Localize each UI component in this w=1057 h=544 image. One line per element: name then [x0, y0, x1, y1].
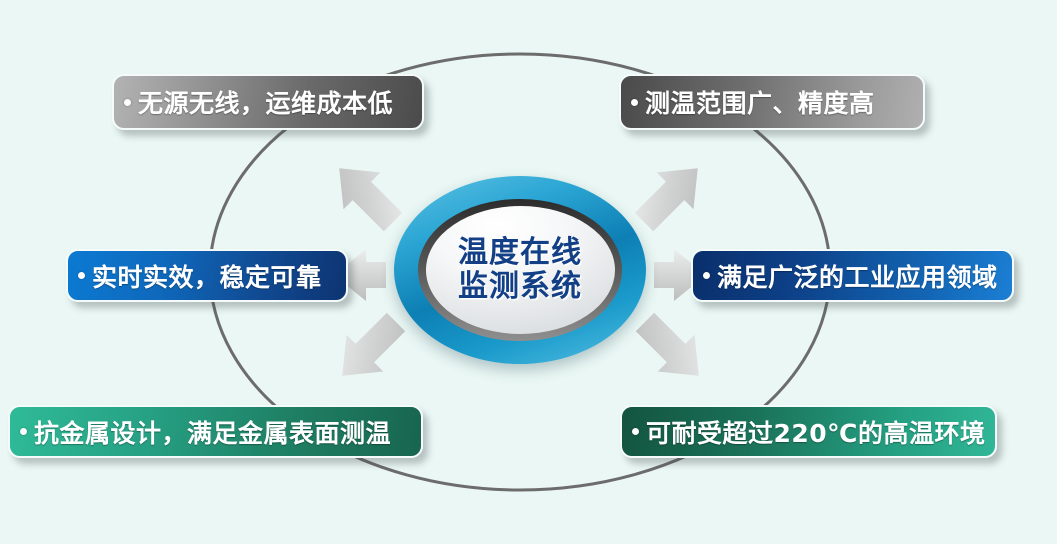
hub-title-line2: 监测系统 — [458, 270, 582, 304]
diagram-canvas: 温度在线 监测系统 无源无线，运维成本低 测温范围广、精度高 实时实效，稳定可靠… — [0, 0, 1057, 544]
bullet-icon — [631, 99, 638, 106]
feature-box-top-right[interactable]: 测温范围广、精度高 — [619, 74, 925, 130]
bullet-icon — [78, 272, 85, 279]
feature-box-middle-right[interactable]: 满足广泛的工业应用领域 — [691, 249, 1014, 302]
feature-label-bottom-left: 抗金属设计，满足金属表面测温 — [34, 414, 391, 450]
feature-label-middle-right: 满足广泛的工业应用领域 — [717, 258, 998, 294]
feature-box-bottom-left[interactable]: 抗金属设计，满足金属表面测温 — [8, 405, 423, 458]
central-hub: 温度在线 监测系统 — [394, 176, 646, 364]
feature-label-middle-left: 实时实效，稳定可靠 — [92, 258, 322, 294]
bullet-icon — [632, 428, 639, 435]
hub-title-line1: 温度在线 — [458, 235, 582, 270]
bullet-icon — [124, 99, 131, 106]
feature-box-middle-left[interactable]: 实时实效，稳定可靠 — [66, 249, 348, 302]
feature-label-top-right: 测温范围广、精度高 — [645, 84, 875, 120]
feature-label-top-left: 无源无线，运维成本低 — [138, 84, 393, 120]
feature-box-bottom-right[interactable]: 可耐受超过220℃的高温环境 — [620, 405, 997, 458]
hub-face: 温度在线 监测系统 — [426, 206, 615, 334]
bullet-icon — [703, 272, 710, 279]
bullet-icon — [20, 428, 27, 435]
hub-title: 温度在线 监测系统 — [458, 236, 582, 303]
feature-label-bottom-right: 可耐受超过220℃的高温环境 — [646, 414, 985, 450]
feature-box-top-left[interactable]: 无源无线，运维成本低 — [112, 74, 424, 130]
